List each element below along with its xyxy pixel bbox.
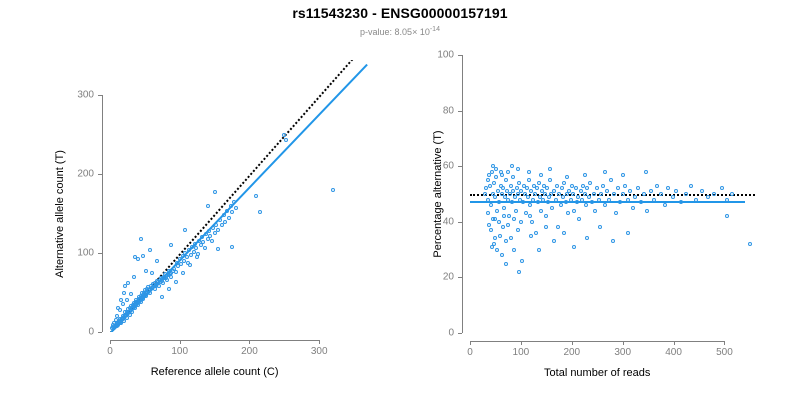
data-point bbox=[136, 257, 140, 261]
y-axis-tick-label: 0 bbox=[0, 327, 94, 338]
data-point bbox=[689, 184, 693, 188]
data-point bbox=[161, 281, 165, 285]
data-point bbox=[574, 186, 578, 190]
x-axis-tick-label: 0 bbox=[107, 346, 113, 357]
data-point bbox=[530, 220, 534, 224]
data-point bbox=[614, 211, 618, 215]
data-point bbox=[720, 186, 724, 190]
data-point bbox=[516, 167, 520, 171]
y-axis-tick bbox=[458, 166, 462, 167]
x-axis-line bbox=[110, 340, 319, 341]
data-point bbox=[511, 175, 515, 179]
x-axis-tick-label: 500 bbox=[716, 347, 733, 358]
x-axis-tick bbox=[110, 340, 111, 344]
data-point bbox=[203, 246, 207, 250]
data-point bbox=[185, 255, 189, 259]
data-point bbox=[539, 173, 543, 177]
data-point bbox=[331, 188, 335, 192]
y-axis-tick-label: 0 bbox=[410, 328, 454, 339]
y-axis-tick bbox=[458, 111, 462, 112]
y-axis-tick bbox=[458, 277, 462, 278]
x-axis-tick-label: 0 bbox=[467, 347, 473, 358]
data-point bbox=[536, 200, 540, 204]
data-point bbox=[181, 271, 185, 275]
x-axis-tick-label: 300 bbox=[614, 347, 631, 358]
data-point bbox=[484, 186, 488, 190]
data-point bbox=[663, 203, 667, 207]
data-point bbox=[119, 298, 123, 302]
x-axis-tick bbox=[319, 340, 320, 344]
data-point bbox=[193, 242, 197, 246]
data-point bbox=[544, 225, 548, 229]
y-axis-title-left: Alternative allele count (T) bbox=[54, 150, 66, 278]
y-axis-tick-label: 20 bbox=[410, 272, 454, 283]
data-point bbox=[493, 195, 497, 199]
data-point bbox=[560, 186, 564, 190]
x-axis-tick-label: 200 bbox=[563, 347, 580, 358]
data-point bbox=[603, 203, 607, 207]
data-point bbox=[593, 209, 597, 213]
x-axis-tick-label: 200 bbox=[241, 346, 258, 357]
data-point bbox=[216, 247, 220, 251]
data-point bbox=[220, 223, 224, 227]
data-point bbox=[495, 209, 499, 213]
data-point bbox=[571, 192, 575, 196]
data-point bbox=[494, 175, 498, 179]
x-axis-tick bbox=[724, 341, 725, 345]
data-point bbox=[585, 236, 589, 240]
data-point bbox=[577, 217, 581, 221]
data-point bbox=[588, 181, 592, 185]
data-point bbox=[552, 239, 556, 243]
data-point bbox=[633, 195, 637, 199]
y-axis-tick bbox=[458, 333, 462, 334]
data-point bbox=[585, 186, 589, 190]
data-point bbox=[497, 200, 501, 204]
data-point bbox=[528, 203, 532, 207]
data-point bbox=[554, 198, 558, 202]
data-point bbox=[537, 248, 541, 252]
data-point bbox=[498, 234, 502, 238]
y-axis-title-right: Percentage alternative (T) bbox=[432, 130, 444, 257]
data-point bbox=[526, 195, 530, 199]
data-point bbox=[502, 206, 506, 210]
data-point bbox=[512, 248, 516, 252]
data-point bbox=[611, 239, 615, 243]
data-point bbox=[642, 192, 646, 196]
data-point bbox=[636, 186, 640, 190]
panel-allele-counts: 01002003000100200300 Reference allele co… bbox=[0, 0, 410, 400]
y-axis-tick bbox=[98, 95, 102, 96]
data-point bbox=[194, 246, 198, 250]
data-point bbox=[141, 254, 145, 258]
y-axis-tick bbox=[98, 174, 102, 175]
data-point bbox=[174, 280, 178, 284]
data-point bbox=[609, 178, 613, 182]
data-point bbox=[207, 229, 211, 233]
data-point bbox=[666, 186, 670, 190]
data-point bbox=[155, 259, 159, 263]
data-point bbox=[562, 231, 566, 235]
data-point bbox=[539, 209, 543, 213]
data-point bbox=[144, 294, 148, 298]
data-point bbox=[165, 278, 169, 282]
data-point bbox=[572, 245, 576, 249]
data-point bbox=[599, 192, 603, 196]
data-point bbox=[644, 170, 648, 174]
data-point bbox=[516, 228, 520, 232]
data-point bbox=[195, 255, 199, 259]
data-point bbox=[486, 211, 490, 215]
x-axis-tick-label: 100 bbox=[513, 347, 530, 358]
data-point bbox=[590, 200, 594, 204]
data-point bbox=[583, 173, 587, 177]
data-point bbox=[230, 245, 234, 249]
data-point bbox=[528, 214, 532, 218]
data-point bbox=[206, 204, 210, 208]
data-point bbox=[492, 242, 496, 246]
data-point bbox=[748, 242, 752, 246]
data-point bbox=[607, 198, 611, 202]
data-point bbox=[512, 217, 516, 221]
x-axis-tick bbox=[623, 341, 624, 345]
data-point bbox=[649, 189, 653, 193]
x-axis-tick-label: 100 bbox=[171, 346, 188, 357]
y-axis-tick-label: 200 bbox=[0, 169, 94, 180]
data-point bbox=[520, 259, 524, 263]
data-point bbox=[254, 194, 258, 198]
data-point bbox=[517, 270, 521, 274]
data-point bbox=[213, 190, 217, 194]
data-point bbox=[499, 170, 503, 174]
data-point bbox=[566, 211, 570, 215]
plot-figure: rs11543230 - ENSG00000157191 p-value: 8.… bbox=[0, 0, 800, 400]
y-axis-tick bbox=[458, 55, 462, 56]
data-point bbox=[527, 170, 531, 174]
data-point bbox=[584, 203, 588, 207]
data-point bbox=[510, 164, 514, 168]
y-axis-line bbox=[102, 95, 103, 332]
data-point bbox=[218, 218, 222, 222]
data-point bbox=[208, 234, 212, 238]
data-point bbox=[258, 210, 262, 214]
plot-area-right bbox=[470, 55, 755, 333]
data-point bbox=[575, 200, 579, 204]
data-point bbox=[561, 195, 565, 199]
data-point bbox=[284, 138, 288, 142]
x-axis-tick bbox=[674, 341, 675, 345]
data-point bbox=[232, 200, 236, 204]
data-point bbox=[706, 195, 710, 199]
data-point bbox=[545, 186, 549, 190]
data-point bbox=[569, 198, 573, 202]
data-point bbox=[628, 189, 632, 193]
data-point bbox=[725, 198, 729, 202]
data-point bbox=[234, 206, 238, 210]
data-point bbox=[548, 167, 552, 171]
data-point bbox=[544, 214, 548, 218]
data-point bbox=[548, 178, 552, 182]
data-point bbox=[110, 326, 114, 330]
data-point bbox=[486, 198, 490, 202]
data-point bbox=[210, 239, 214, 243]
x-axis-tick bbox=[521, 341, 522, 345]
data-point bbox=[605, 189, 609, 193]
data-point bbox=[148, 248, 152, 252]
data-point bbox=[700, 189, 704, 193]
data-point bbox=[500, 253, 504, 257]
data-point bbox=[169, 243, 173, 247]
data-point bbox=[497, 220, 501, 224]
y-axis-tick bbox=[98, 332, 102, 333]
data-point bbox=[529, 234, 533, 238]
y-axis-tick-label: 300 bbox=[0, 90, 94, 101]
data-point bbox=[537, 181, 541, 185]
data-point bbox=[225, 209, 229, 213]
x-axis-line bbox=[470, 341, 724, 342]
data-point bbox=[519, 220, 523, 224]
data-point bbox=[488, 184, 492, 188]
data-point bbox=[531, 198, 535, 202]
x-axis-title-left: Reference allele count (C) bbox=[151, 366, 279, 378]
data-point bbox=[504, 262, 508, 266]
data-point bbox=[546, 200, 550, 204]
data-point bbox=[214, 223, 218, 227]
data-point bbox=[639, 200, 643, 204]
y-axis-tick bbox=[458, 222, 462, 223]
data-point bbox=[521, 200, 525, 204]
data-point bbox=[183, 228, 187, 232]
data-point bbox=[572, 209, 576, 213]
data-point bbox=[626, 231, 630, 235]
data-point bbox=[144, 269, 148, 273]
data-point bbox=[129, 292, 133, 296]
data-point bbox=[535, 186, 539, 190]
data-point bbox=[227, 216, 231, 220]
data-point bbox=[216, 228, 220, 232]
data-point bbox=[493, 236, 497, 240]
data-point bbox=[612, 192, 616, 196]
data-point bbox=[125, 298, 129, 302]
data-point bbox=[603, 170, 607, 174]
data-point bbox=[122, 291, 126, 295]
data-point bbox=[679, 200, 683, 204]
data-point bbox=[550, 206, 554, 210]
data-point bbox=[684, 192, 688, 196]
data-point bbox=[621, 173, 625, 177]
data-point bbox=[580, 198, 584, 202]
data-point bbox=[671, 195, 675, 199]
x-axis-tick bbox=[572, 341, 573, 345]
data-point bbox=[504, 178, 508, 182]
data-point bbox=[502, 214, 506, 218]
data-point bbox=[222, 213, 226, 217]
data-point bbox=[534, 231, 538, 235]
data-point bbox=[148, 291, 152, 295]
data-point bbox=[541, 198, 545, 202]
data-point bbox=[492, 181, 496, 185]
data-point bbox=[169, 275, 173, 279]
data-point bbox=[533, 192, 537, 196]
data-point bbox=[631, 206, 635, 210]
data-point bbox=[201, 240, 205, 244]
data-point bbox=[504, 239, 508, 243]
data-point bbox=[511, 189, 515, 193]
data-point bbox=[489, 203, 493, 207]
data-point bbox=[725, 214, 729, 218]
x-axis-tick bbox=[470, 341, 471, 345]
data-point bbox=[592, 192, 596, 196]
data-point bbox=[230, 210, 234, 214]
data-point bbox=[507, 214, 511, 218]
data-point bbox=[139, 237, 143, 241]
data-point bbox=[556, 225, 560, 229]
x-axis-tick bbox=[180, 340, 181, 344]
panel-percentage: 0100200300400500020406080100 Total numbe… bbox=[410, 0, 800, 400]
data-point bbox=[587, 195, 591, 199]
y-axis-tick bbox=[98, 253, 102, 254]
data-point bbox=[562, 181, 566, 185]
y-axis-tick-label: 100 bbox=[0, 248, 94, 259]
data-point bbox=[160, 295, 164, 299]
data-point bbox=[564, 200, 568, 204]
data-point bbox=[645, 209, 649, 213]
data-point bbox=[616, 186, 620, 190]
x-axis-tick-label: 400 bbox=[665, 347, 682, 358]
data-point bbox=[514, 209, 518, 213]
data-point bbox=[601, 184, 605, 188]
data-point bbox=[623, 184, 627, 188]
data-point bbox=[154, 284, 158, 288]
data-point bbox=[483, 192, 487, 196]
data-point bbox=[626, 198, 630, 202]
data-point bbox=[694, 198, 698, 202]
data-point bbox=[552, 189, 556, 193]
data-point bbox=[506, 198, 510, 202]
plot-area-left bbox=[110, 60, 368, 332]
data-point bbox=[501, 225, 505, 229]
data-point bbox=[597, 198, 601, 202]
data-point bbox=[509, 236, 513, 240]
data-point bbox=[229, 204, 233, 208]
data-point bbox=[121, 302, 125, 306]
data-point bbox=[659, 192, 663, 196]
data-point bbox=[509, 184, 513, 188]
data-point bbox=[116, 306, 120, 310]
x-axis-tick bbox=[249, 340, 250, 344]
data-point bbox=[486, 178, 490, 182]
data-point bbox=[598, 225, 602, 229]
data-point bbox=[282, 133, 286, 137]
data-point bbox=[730, 192, 734, 196]
data-point bbox=[565, 175, 569, 179]
data-point bbox=[132, 275, 136, 279]
data-point bbox=[655, 184, 659, 188]
data-point bbox=[200, 235, 204, 239]
data-point bbox=[188, 263, 192, 267]
data-point bbox=[621, 192, 625, 196]
y-axis-line bbox=[462, 55, 463, 333]
y-axis-tick-label: 80 bbox=[410, 105, 454, 116]
data-point bbox=[223, 220, 227, 224]
data-point bbox=[618, 200, 622, 204]
data-point bbox=[489, 228, 493, 232]
data-point bbox=[517, 181, 521, 185]
data-point bbox=[555, 184, 559, 188]
data-point bbox=[527, 178, 531, 182]
data-point bbox=[174, 270, 178, 274]
x-axis-title-right: Total number of reads bbox=[544, 367, 650, 379]
data-point bbox=[167, 287, 171, 291]
data-point bbox=[490, 170, 494, 174]
data-point bbox=[652, 198, 656, 202]
data-point bbox=[213, 231, 217, 235]
data-point bbox=[712, 192, 716, 196]
data-point bbox=[559, 203, 563, 207]
data-point bbox=[506, 170, 510, 174]
data-point bbox=[674, 189, 678, 193]
data-point bbox=[150, 271, 154, 275]
y-axis-tick-label: 100 bbox=[410, 50, 454, 61]
data-point bbox=[595, 186, 599, 190]
data-point bbox=[506, 223, 510, 227]
data-point bbox=[510, 200, 514, 204]
data-point bbox=[126, 281, 130, 285]
data-point bbox=[487, 223, 491, 227]
data-point bbox=[495, 248, 499, 252]
x-axis-tick-label: 300 bbox=[311, 346, 328, 357]
